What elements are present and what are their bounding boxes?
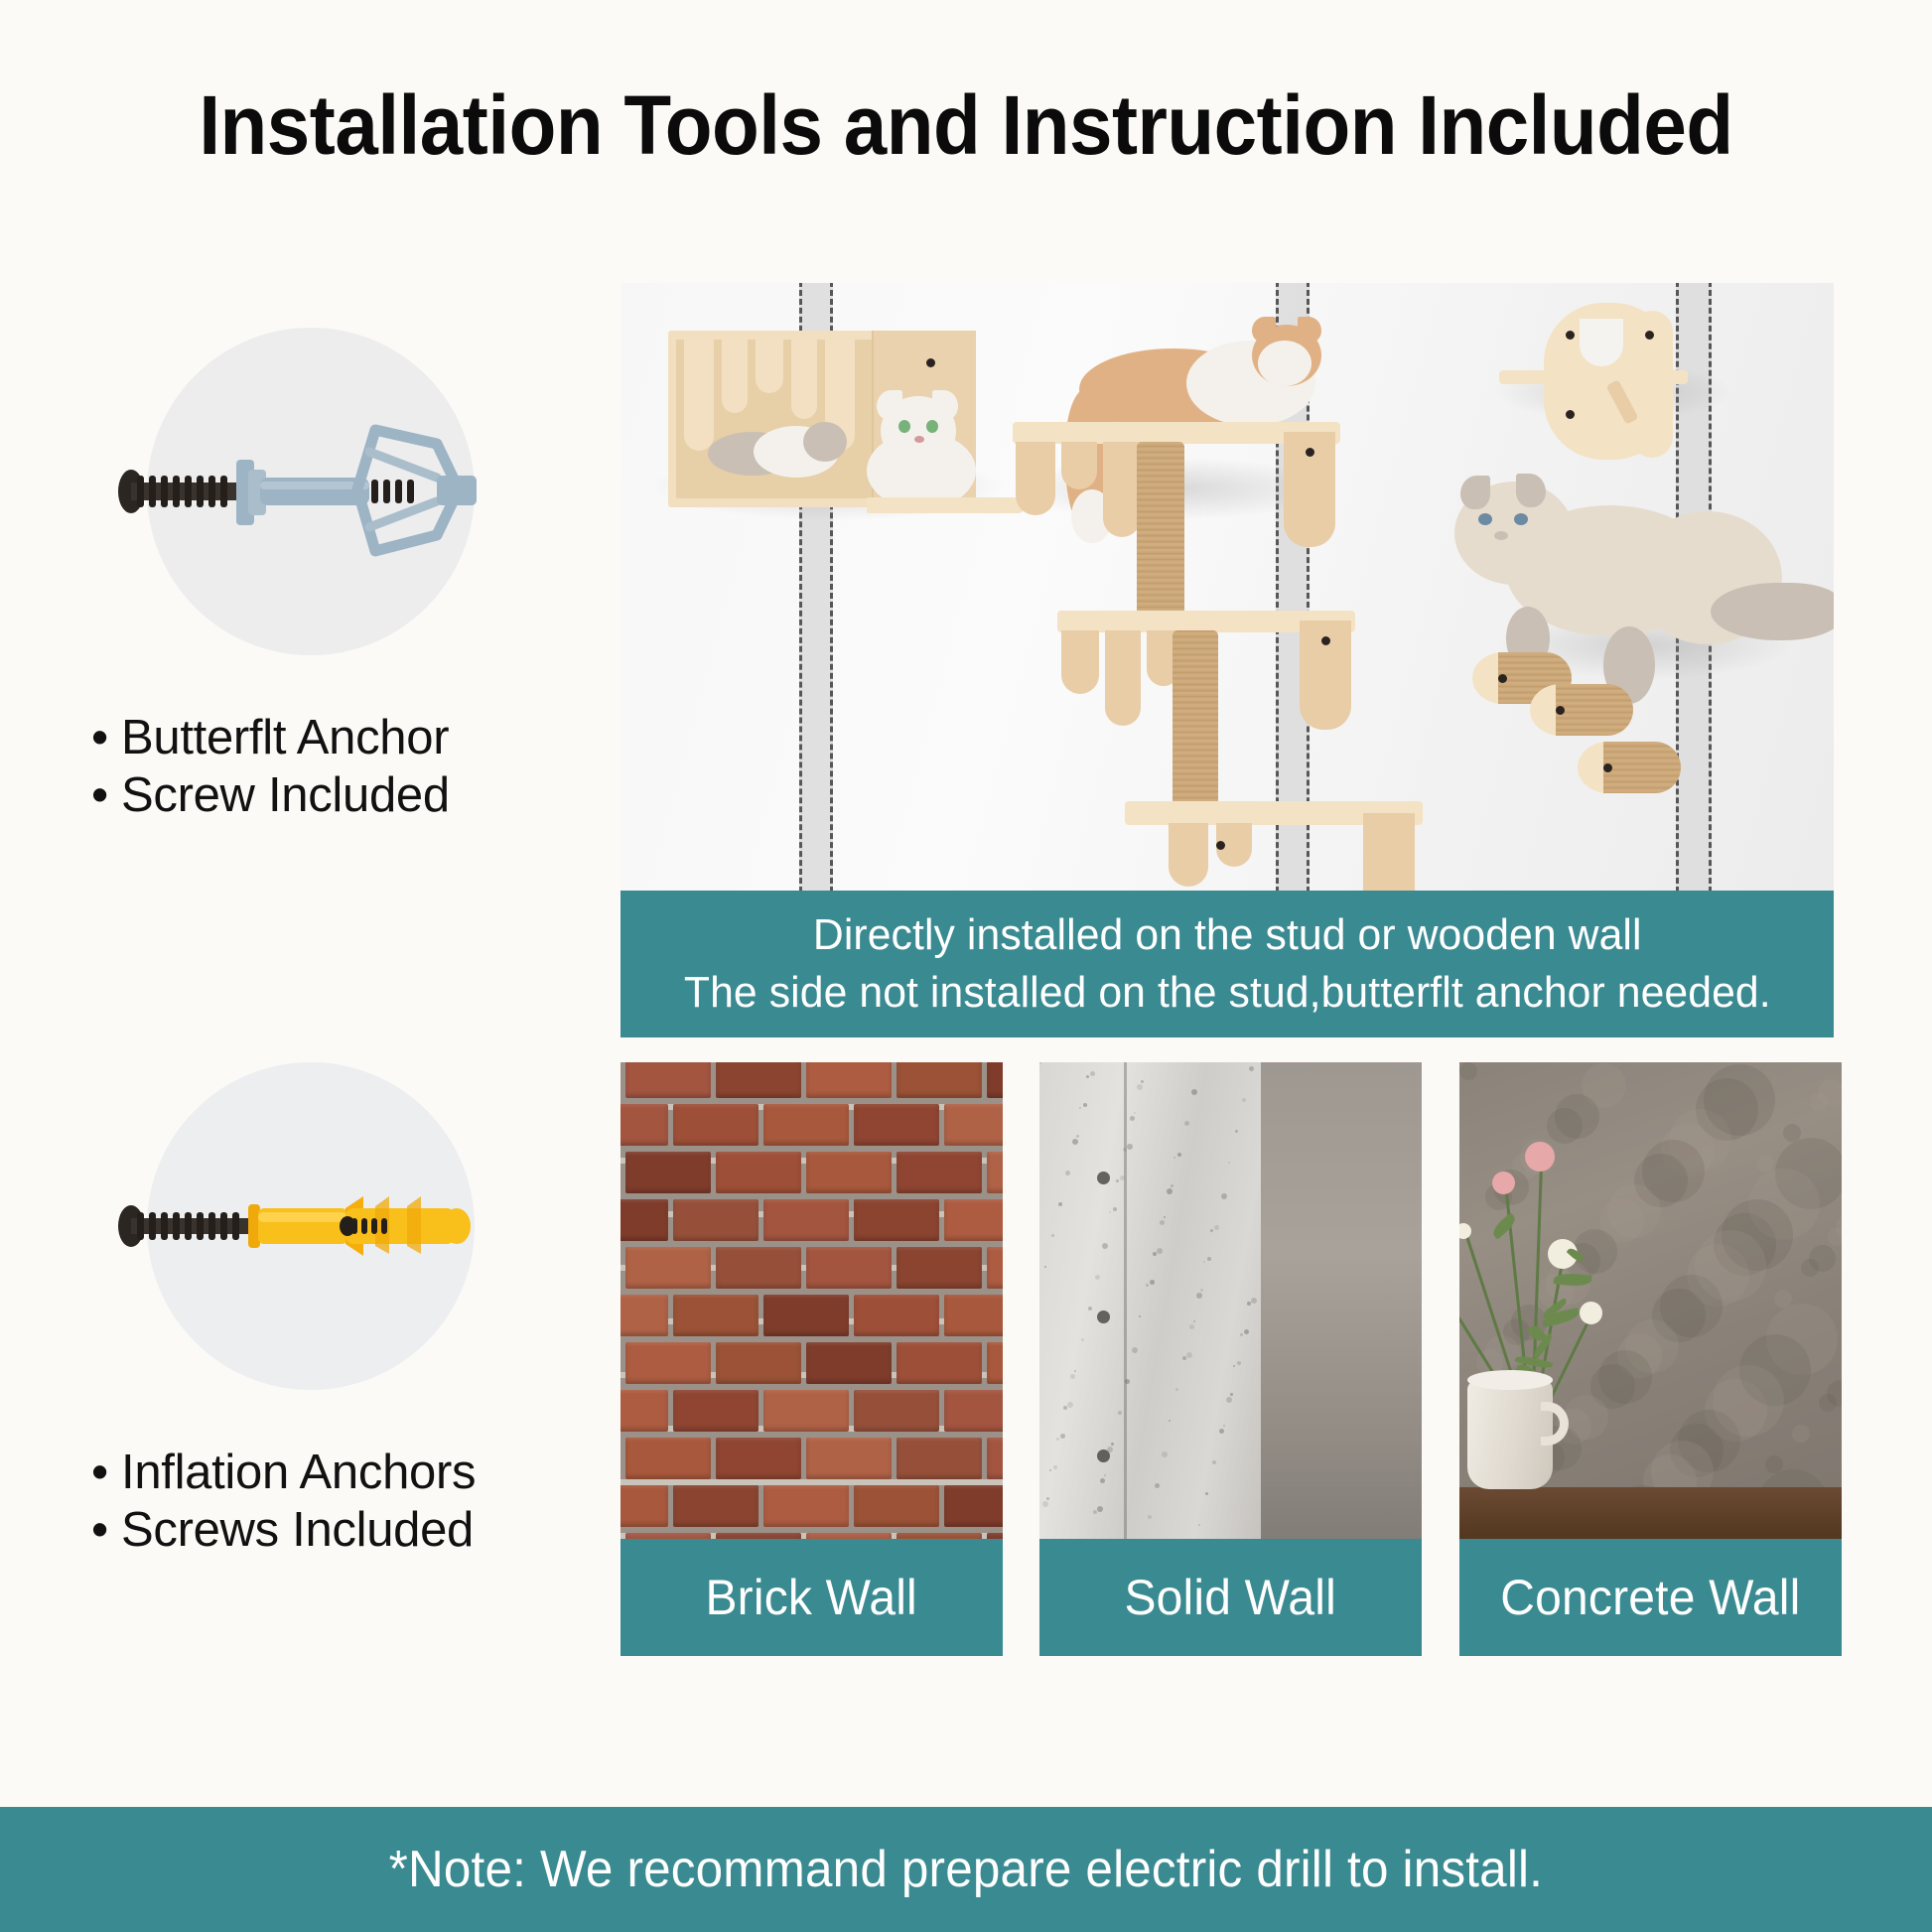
- caption-line-2: The side not installed on the stud,butte…: [684, 964, 1771, 1022]
- concrete-speck: [1123, 1148, 1127, 1152]
- brick: [987, 1062, 1003, 1098]
- bullet-line: •Screws Included: [91, 1502, 627, 1560]
- ceramic-pitcher: [1467, 1380, 1553, 1489]
- concrete-speck: [1214, 1225, 1219, 1230]
- brick: [944, 1390, 1003, 1432]
- brick: [944, 1199, 1003, 1241]
- brick: [763, 1199, 849, 1241]
- brick: [716, 1247, 801, 1289]
- brick: [944, 1485, 1003, 1527]
- concrete-speck: [1167, 1188, 1173, 1194]
- concrete-speck: [1097, 1506, 1103, 1512]
- step-post-body: [1603, 742, 1681, 793]
- brick: [763, 1104, 849, 1146]
- concrete-speck: [1207, 1257, 1211, 1261]
- brick: [806, 1247, 892, 1289]
- brick: [621, 1199, 668, 1241]
- screw-hole: [1306, 448, 1314, 457]
- drip-apron: [1061, 630, 1099, 694]
- concrete-speck: [1223, 1425, 1225, 1427]
- brick-wall-photo: [621, 1062, 1003, 1539]
- concrete-speck: [1111, 1443, 1114, 1446]
- concrete-speck: [1146, 1284, 1149, 1287]
- concrete-speck: [1079, 1107, 1081, 1109]
- drip-apron: [1103, 442, 1141, 537]
- concrete-speck: [1090, 1071, 1095, 1076]
- brick: [854, 1104, 939, 1146]
- brick: [673, 1485, 759, 1527]
- cat-grey-in-box: [708, 418, 847, 480]
- brick: [987, 1533, 1003, 1539]
- concrete-speck: [1083, 1103, 1087, 1107]
- concrete-speck: [1203, 1261, 1205, 1263]
- concrete-speck: [1198, 1524, 1200, 1526]
- shelf-bracket: [1363, 813, 1415, 891]
- brick: [673, 1295, 759, 1336]
- concrete-mottle: [1704, 1064, 1775, 1136]
- brick-texture: [621, 1062, 1003, 1539]
- concrete-speck: [1162, 1451, 1168, 1457]
- solid-wall-photo: [1039, 1062, 1422, 1539]
- inflation-anchor-bullets: •Inflation Anchors •Screws Included: [91, 1445, 627, 1560]
- concrete-speck: [1058, 1202, 1062, 1206]
- concrete-column: [1039, 1062, 1261, 1539]
- concrete-speck: [1141, 1080, 1144, 1083]
- caption-line-1: Directly installed on the stud or wooden…: [813, 906, 1642, 964]
- drip-apron: [1016, 442, 1055, 515]
- concrete-speck: [1247, 1302, 1251, 1306]
- brick: [625, 1533, 711, 1539]
- concrete-speck: [1196, 1293, 1202, 1299]
- wall-card-label: Concrete Wall: [1459, 1539, 1842, 1656]
- concrete-speck: [1088, 1307, 1092, 1311]
- concrete-speck: [1039, 1062, 1041, 1064]
- concrete-mottle: [1774, 1290, 1792, 1308]
- screw-hole: [1216, 841, 1225, 850]
- concrete-speck: [1046, 1497, 1049, 1500]
- concrete-speck: [1219, 1429, 1224, 1434]
- brick: [625, 1438, 711, 1479]
- brick: [987, 1342, 1003, 1384]
- brick: [716, 1152, 801, 1193]
- flower-bloom: [1580, 1302, 1602, 1324]
- brick: [854, 1199, 939, 1241]
- concrete-speck: [1228, 1162, 1230, 1164]
- brick: [673, 1199, 759, 1241]
- bullet-dot: •: [91, 710, 121, 767]
- brick: [716, 1342, 801, 1384]
- concrete-speck: [1153, 1252, 1157, 1256]
- note-bar: *Note: We recommand prepare electric dri…: [0, 1807, 1932, 1932]
- concrete-speck: [1074, 1370, 1076, 1372]
- brick: [625, 1062, 711, 1098]
- brick: [716, 1062, 801, 1098]
- screw-hole: [926, 358, 935, 367]
- brick: [763, 1295, 849, 1336]
- brick: [987, 1247, 1003, 1289]
- concrete-speck: [1221, 1193, 1227, 1199]
- concrete-speck: [1169, 1420, 1171, 1422]
- hero-installation-photo: [621, 283, 1834, 891]
- brick: [897, 1062, 982, 1098]
- concrete-speck: [1150, 1280, 1155, 1285]
- screw-hole: [1603, 763, 1612, 772]
- concrete-mottle: [1783, 1124, 1801, 1142]
- tie-hole: [1097, 1172, 1110, 1184]
- brick: [806, 1062, 892, 1098]
- wall-card-brick[interactable]: Brick Wall: [621, 1062, 1003, 1656]
- brick: [806, 1533, 892, 1539]
- brick: [854, 1485, 939, 1527]
- drip-apron: [1061, 442, 1097, 489]
- concrete-speck: [1125, 1379, 1130, 1384]
- concrete-speck: [1049, 1469, 1051, 1471]
- brick: [621, 1104, 668, 1146]
- brick: [854, 1295, 939, 1336]
- concrete-speck: [1189, 1324, 1194, 1329]
- concrete-speck: [1237, 1361, 1241, 1365]
- concrete-mottle: [1459, 1062, 1477, 1080]
- brick: [621, 1485, 668, 1527]
- concrete-speck: [1242, 1098, 1246, 1102]
- concrete-speck: [1182, 1356, 1186, 1360]
- screw-hole: [1556, 706, 1565, 715]
- note-text: *Note: We recommand prepare electric dri…: [389, 1840, 1543, 1899]
- flower-bloom: [1525, 1142, 1555, 1172]
- screw-hole: [1566, 410, 1575, 419]
- concrete-speck: [1249, 1066, 1254, 1071]
- concrete-speck: [1184, 1121, 1189, 1126]
- bullet-line: •Butterflt Anchor: [91, 710, 627, 767]
- wall-card-label: Solid Wall: [1039, 1539, 1422, 1656]
- concrete-speck: [1060, 1434, 1065, 1439]
- butterfly-toggle-anchor-icon: [0, 328, 616, 655]
- brick: [944, 1104, 1003, 1146]
- cat-white-in-box: [863, 392, 982, 503]
- concrete-speck: [1155, 1483, 1160, 1488]
- concrete-speck: [1212, 1460, 1216, 1464]
- concrete-speck: [1065, 1171, 1070, 1175]
- brick: [673, 1390, 759, 1432]
- screw-hole: [1566, 331, 1575, 340]
- screw-hole: [1321, 636, 1330, 645]
- bracket-notch: [1580, 319, 1623, 366]
- concrete-speck: [1113, 1207, 1117, 1211]
- bullet-line: •Screw Included: [91, 767, 627, 825]
- drip-cutout: [722, 340, 748, 413]
- brick: [854, 1390, 939, 1432]
- concrete-speck: [1109, 1211, 1111, 1213]
- tie-hole: [1097, 1311, 1110, 1323]
- concrete-speck: [1116, 1179, 1119, 1182]
- wall-type-cards: Brick Wall Solid Wall Concrete Wall: [621, 1062, 1834, 1673]
- concrete-speck: [1053, 1465, 1057, 1469]
- brick: [897, 1533, 982, 1539]
- concrete-speck: [1186, 1352, 1192, 1358]
- concrete-mottle: [1809, 1245, 1836, 1272]
- concrete-speck: [1191, 1089, 1197, 1095]
- brick: [897, 1247, 982, 1289]
- sisal-scratching-post: [1137, 442, 1184, 619]
- concrete-speck: [1102, 1243, 1108, 1249]
- bracket-shelf-board: [1499, 370, 1688, 384]
- drip-apron: [1105, 630, 1141, 726]
- concrete-mottle: [1642, 1140, 1705, 1202]
- drip-cutout: [756, 340, 783, 393]
- concrete-speck: [1051, 1234, 1054, 1237]
- concrete-speck: [1063, 1406, 1067, 1410]
- concrete-speck: [1070, 1374, 1075, 1379]
- brick: [763, 1485, 849, 1527]
- concrete-speck: [1127, 1144, 1133, 1150]
- concrete-speck: [1056, 1438, 1059, 1441]
- wall-card-solid[interactable]: Solid Wall: [1039, 1062, 1422, 1656]
- wall-card-label: Brick Wall: [621, 1539, 1003, 1656]
- brick: [897, 1342, 982, 1384]
- concrete-speck: [1139, 1315, 1141, 1317]
- concrete-speck: [1104, 1474, 1106, 1476]
- brick: [716, 1438, 801, 1479]
- sisal-scratching-post: [1173, 630, 1218, 809]
- brick: [897, 1152, 982, 1193]
- brick: [897, 1438, 982, 1479]
- concrete-speck: [1233, 1365, 1235, 1367]
- concrete-speck: [1200, 1289, 1203, 1292]
- concrete-speck: [1137, 1084, 1143, 1090]
- drip-cutout: [791, 340, 817, 419]
- concrete-speck: [1235, 1130, 1238, 1133]
- concrete-speck: [1148, 1515, 1152, 1519]
- brick: [944, 1295, 1003, 1336]
- concrete-speck: [1175, 1388, 1178, 1391]
- flower-bloom: [1459, 1223, 1471, 1239]
- cat-condo-box: [668, 331, 976, 507]
- inflation-expansion-anchor-icon: [0, 1062, 616, 1390]
- bullet-dot: •: [91, 1502, 121, 1560]
- concrete-speck: [1157, 1248, 1163, 1254]
- concrete-speck: [1132, 1347, 1138, 1353]
- rear-wall: [1261, 1062, 1422, 1539]
- bullet-dot: •: [91, 1445, 121, 1502]
- concrete-mottle: [1695, 1230, 1766, 1302]
- concrete-speck: [1072, 1139, 1078, 1145]
- brick: [987, 1152, 1003, 1193]
- brick: [806, 1342, 892, 1384]
- concrete-mottle: [1756, 1155, 1774, 1173]
- concrete-mottle: [1713, 1365, 1784, 1437]
- concrete-speck: [1130, 1116, 1135, 1121]
- concrete-mottle: [1818, 1079, 1842, 1106]
- concrete-speck: [1244, 1329, 1249, 1334]
- concrete-speck: [1177, 1153, 1181, 1157]
- concrete-speck: [1076, 1135, 1079, 1138]
- brick: [806, 1438, 892, 1479]
- bullet-dot: •: [91, 767, 121, 825]
- concrete-speck: [1164, 1216, 1166, 1218]
- flower-leaf: [1489, 1212, 1518, 1239]
- brick: [716, 1533, 801, 1539]
- concrete-speck: [1251, 1298, 1257, 1304]
- pitcher-lip: [1467, 1370, 1553, 1390]
- wall-card-concrete[interactable]: Concrete Wall: [1459, 1062, 1842, 1656]
- concrete-speck: [1081, 1338, 1084, 1341]
- screw-hole: [1645, 331, 1654, 340]
- brick: [621, 1295, 668, 1336]
- concrete-speck: [1086, 1075, 1089, 1078]
- flower-bloom: [1492, 1172, 1515, 1194]
- concrete-speck: [1118, 1411, 1122, 1415]
- concrete-speck: [1095, 1275, 1100, 1280]
- tie-hole: [1097, 1449, 1110, 1462]
- concrete-speck: [1171, 1184, 1173, 1187]
- concrete-speck: [1042, 1501, 1048, 1507]
- brick: [621, 1390, 668, 1432]
- butterfly-anchor-bullets: •Butterflt Anchor •Screw Included: [91, 710, 627, 825]
- brick: [625, 1152, 711, 1193]
- screw-hole: [1498, 674, 1507, 683]
- step-post-body: [1556, 684, 1633, 736]
- brick: [806, 1152, 892, 1193]
- concrete-speck: [1240, 1333, 1243, 1336]
- concrete-speck: [1067, 1402, 1073, 1408]
- concrete-speck: [1134, 1112, 1136, 1114]
- concrete-speck: [1044, 1266, 1046, 1268]
- concrete-speck: [1193, 1320, 1195, 1322]
- brick: [625, 1342, 711, 1384]
- bullet-line: •Inflation Anchors: [91, 1445, 627, 1502]
- concrete-speck: [1100, 1478, 1105, 1483]
- brick: [763, 1390, 849, 1432]
- brick: [625, 1247, 711, 1289]
- hero-caption-band: Directly installed on the stud or wooden…: [621, 891, 1834, 1037]
- concrete-mottle: [1792, 1425, 1810, 1443]
- brick: [987, 1438, 1003, 1479]
- concrete-mottle: [1765, 1455, 1783, 1473]
- concrete-speck: [1205, 1492, 1208, 1495]
- drip-apron: [1169, 823, 1208, 887]
- concrete-speck: [1160, 1220, 1165, 1225]
- concrete-wall-photo: [1459, 1062, 1842, 1539]
- tools-column: •Butterflt Anchor •Screw Included: [0, 0, 616, 1932]
- concrete-speck: [1226, 1397, 1232, 1403]
- concrete-speck: [1210, 1229, 1213, 1232]
- concrete-speck: [1173, 1157, 1175, 1159]
- concrete-speck: [1120, 1175, 1125, 1180]
- concrete-speck: [1230, 1393, 1233, 1396]
- concrete-speck: [1093, 1510, 1097, 1514]
- condo-ledge: [867, 497, 1026, 513]
- brick: [673, 1104, 759, 1146]
